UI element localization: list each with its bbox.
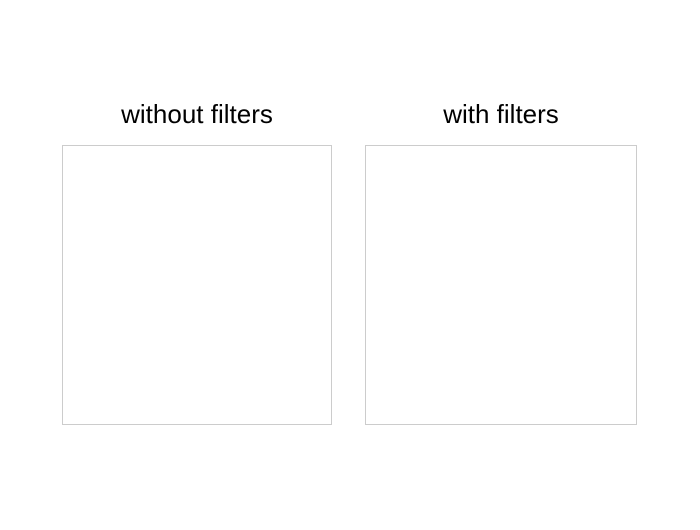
figure-canvas: without filters with filters	[0, 0, 700, 530]
waveform-plot-svg	[0, 0, 700, 530]
